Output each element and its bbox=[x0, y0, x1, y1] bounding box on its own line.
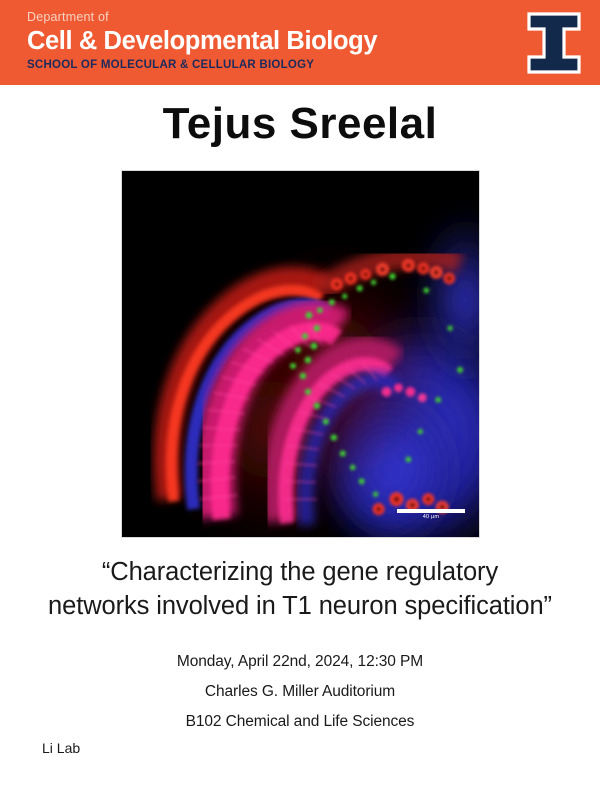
event-datetime: Monday, April 22nd, 2024, 12:30 PM bbox=[0, 647, 600, 677]
department-header-banner: Department of Cell & Developmental Biolo… bbox=[0, 0, 600, 85]
event-building: B102 Chemical and Life Sciences bbox=[0, 707, 600, 737]
event-details: Monday, April 22nd, 2024, 12:30 PM Charl… bbox=[0, 647, 600, 737]
header-department-name: Cell & Developmental Biology bbox=[27, 26, 377, 56]
talk-title: “Characterizing the gene regulatory netw… bbox=[30, 555, 570, 623]
talk-title-line-2: networks involved in T1 neuron specifica… bbox=[30, 589, 570, 623]
scale-bar-label: 40 µm bbox=[397, 513, 465, 521]
header-text-block: Department of Cell & Developmental Biolo… bbox=[27, 9, 377, 73]
speaker-name: Tejus Sreelal bbox=[0, 98, 600, 150]
talk-title-line-1: “Characterizing the gene regulatory bbox=[30, 555, 570, 589]
illinois-block-i-icon bbox=[526, 11, 582, 75]
header-school-name: SCHOOL OF MOLECULAR & CELLULAR BIOLOGY bbox=[27, 58, 377, 73]
microscopy-image-canvas bbox=[122, 171, 479, 537]
scale-bar: 40 µm bbox=[397, 509, 465, 521]
header-eyebrow: Department of bbox=[27, 9, 377, 25]
event-venue: Charles G. Miller Auditorium bbox=[0, 677, 600, 707]
microscopy-figure: 40 µm bbox=[121, 170, 480, 538]
lab-footer-label: Li Lab bbox=[42, 738, 80, 758]
